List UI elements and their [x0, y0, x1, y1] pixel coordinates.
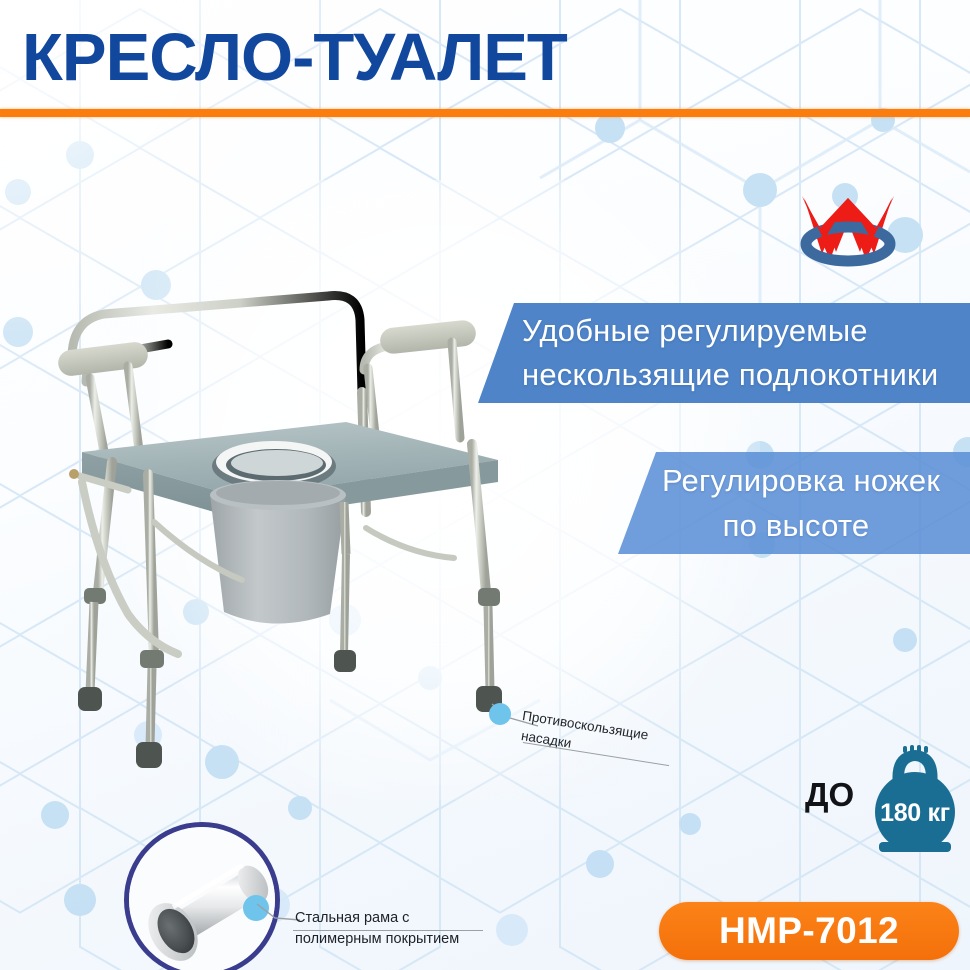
- m-logo-icon: [788, 182, 908, 280]
- weight-capacity-prefix: ДО: [805, 776, 854, 814]
- feature-banner-legs-text: Регулировка ножек по высоте: [618, 458, 970, 548]
- weight-capacity-value: 180 кг: [863, 742, 967, 854]
- product-poster: КРЕСЛО-ТУАЛЕТ: [0, 0, 970, 970]
- feature-banner-armrests-line2: нескользящие подлокотники: [522, 353, 938, 397]
- feature-banner-armrests-line1: Удобные регулируемые: [522, 309, 938, 353]
- feature-banner-legs-line1: Регулировка ножек: [662, 458, 970, 503]
- annotation-steel-frame-line2: полимерным покрытием: [295, 929, 459, 950]
- feature-banner-armrests-text: Удобные регулируемые нескользящие подлок…: [478, 309, 938, 397]
- page-title: КРЕСЛО-ТУАЛЕТ: [22, 20, 567, 96]
- annotation-steel-frame-line1: Стальная рама с: [295, 908, 459, 929]
- annotation-steel-frame: Стальная рама с полимерным покрытием: [295, 908, 459, 950]
- feature-banner-legs-line2: по высоте: [662, 503, 970, 548]
- annotation-steel-frame-rule: [293, 930, 483, 931]
- weight-capacity-badge: ДО 180 кг: [805, 742, 967, 854]
- product-image-commode-chair: [28, 262, 548, 822]
- feature-banner-armrests: Удобные регулируемые нескользящие подлок…: [478, 303, 970, 403]
- anti-slip-node-dot: [489, 703, 511, 725]
- feature-banner-legs: Регулировка ножек по высоте: [618, 452, 970, 554]
- brand-logo: [788, 182, 908, 280]
- model-code-badge: HMP-7012: [659, 902, 959, 960]
- title-underline-bar: [0, 109, 970, 117]
- commode-chair-illustration: [28, 262, 548, 822]
